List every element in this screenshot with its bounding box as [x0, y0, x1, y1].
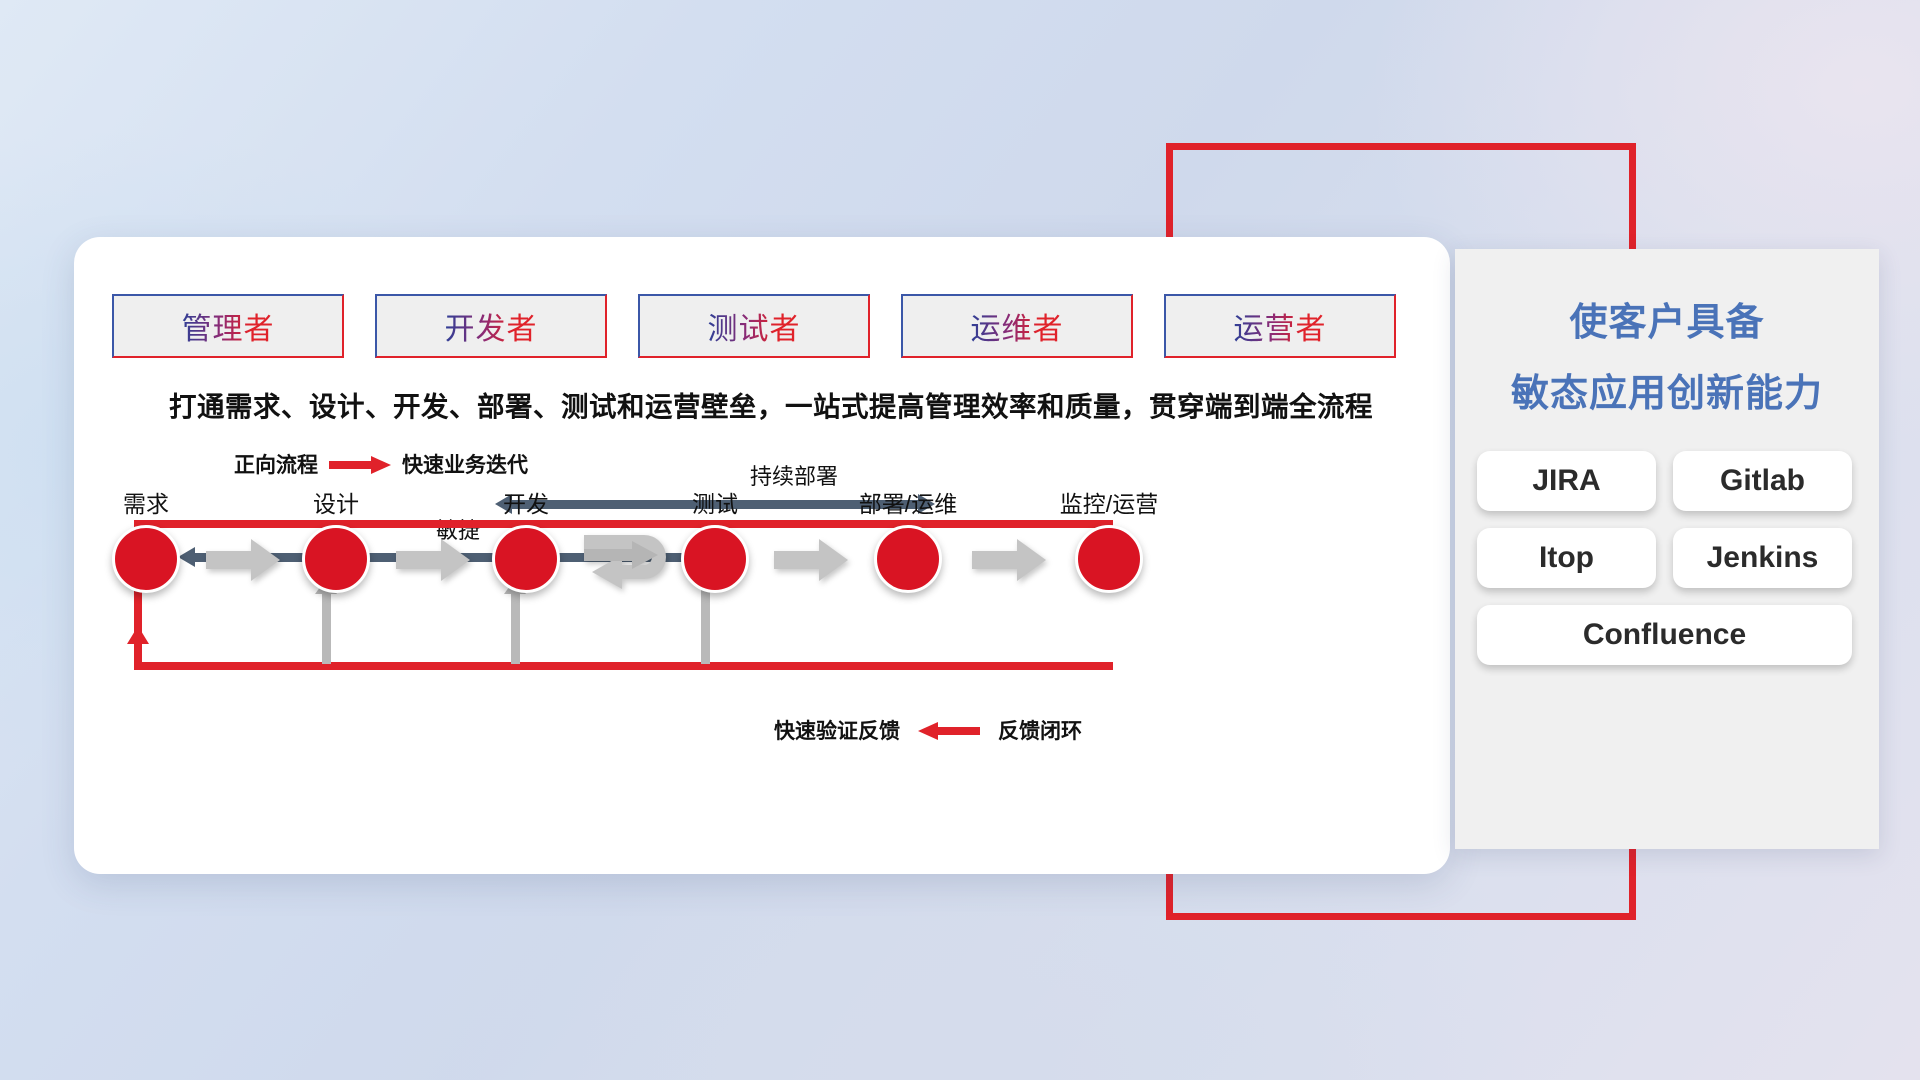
pipeline-node-label: 部署/运维	[859, 485, 957, 519]
panel-heading-line1: 使客户具备	[1455, 291, 1879, 346]
legend-feedback-right: 反馈闭环	[998, 715, 1082, 745]
tool-chip-confluence[interactable]: Confluence	[1477, 605, 1852, 665]
tool-chip-jenkins[interactable]: Jenkins	[1673, 528, 1852, 588]
arrow-left-red-icon	[918, 722, 980, 739]
pipeline-node-label: 设计	[313, 485, 359, 519]
node-circle	[1075, 525, 1143, 593]
node-circle	[302, 525, 370, 593]
node-circle	[681, 525, 749, 593]
role-box-row: 管理者 开发者 测试者 运维者 运营者	[112, 294, 1396, 358]
pipeline-node-requirement[interactable]: 需求	[112, 525, 180, 593]
main-content-card: 管理者 开发者 测试者 运维者 运营者 打通需求、设计、开发、部署、测试和运营壁…	[74, 237, 1450, 874]
pipeline-node-label: 测试	[692, 485, 738, 519]
role-box-ops[interactable]: 运维者	[901, 294, 1133, 358]
pipeline-node-develop[interactable]: 开发	[492, 525, 560, 593]
loop-bottom-line	[134, 662, 1113, 670]
panel-heading-line2: 敏态应用创新能力	[1455, 362, 1879, 417]
arrow-head-left	[178, 547, 195, 567]
pipeline-node-deploy-ops[interactable]: 部署/运维	[874, 525, 942, 593]
tool-chip-gitlab[interactable]: Gitlab	[1673, 451, 1852, 511]
node-circle	[492, 525, 560, 593]
tool-chip-jira[interactable]: JIRA	[1477, 451, 1656, 511]
legend-forward-left: 正向流程	[234, 449, 318, 479]
role-box-manager[interactable]: 管理者	[112, 294, 344, 358]
connector-arrow-1	[206, 537, 280, 583]
node-circle	[112, 525, 180, 593]
pipeline-node-design[interactable]: 设计	[302, 525, 370, 593]
pipeline-node-label: 需求	[123, 485, 169, 519]
role-label: 运维者	[971, 304, 1064, 348]
role-label: 运营者	[1234, 304, 1327, 348]
feed-stub-develop	[511, 592, 520, 664]
connector-arrow-2	[396, 537, 470, 583]
pipeline-node-test[interactable]: 测试	[681, 525, 749, 593]
role-label: 管理者	[182, 304, 275, 348]
role-label: 开发者	[445, 304, 538, 348]
outcome-panel: 使客户具备 敏态应用创新能力 JIRA Gitlab Itop Jenkins …	[1455, 249, 1879, 849]
pipeline-node-label: 开发	[503, 485, 549, 519]
connector-arrow-3	[774, 537, 848, 583]
pipeline-node-label: 监控/运营	[1060, 485, 1158, 519]
arrow-right-red-icon	[329, 456, 391, 473]
loop-left-up-stem	[134, 626, 142, 666]
connector-arrow-4	[972, 537, 1046, 583]
feed-stub-test	[701, 582, 710, 664]
node-circle	[874, 525, 942, 593]
legend-forward-flow: 正向流程 快速业务迭代	[234, 449, 528, 479]
slide-canvas: 管理者 开发者 测试者 运维者 运营者 打通需求、设计、开发、部署、测试和运营壁…	[0, 0, 1920, 1080]
role-box-tester[interactable]: 测试者	[638, 294, 870, 358]
tool-chip-list: JIRA Gitlab Itop Jenkins Confluence	[1455, 417, 1879, 665]
role-box-developer[interactable]: 开发者	[375, 294, 607, 358]
pipeline-node-monitor-operate[interactable]: 监控/运营	[1075, 525, 1143, 593]
legend-feedback-loop: 快速验证反馈 反馈闭环	[774, 715, 1082, 745]
loop-top-line	[134, 520, 1113, 528]
tool-chip-itop[interactable]: Itop	[1477, 528, 1656, 588]
connector-arrow-uturn	[582, 529, 678, 591]
legend-feedback-left: 快速验证反馈	[774, 715, 900, 745]
legend-forward-right: 快速业务迭代	[402, 449, 528, 479]
role-box-operations[interactable]: 运营者	[1164, 294, 1396, 358]
role-label: 测试者	[708, 304, 801, 348]
description-text: 打通需求、设计、开发、部署、测试和运营壁垒，一站式提高管理效率和质量，贯穿端到端…	[126, 384, 1416, 424]
feed-stub-design	[322, 592, 331, 664]
